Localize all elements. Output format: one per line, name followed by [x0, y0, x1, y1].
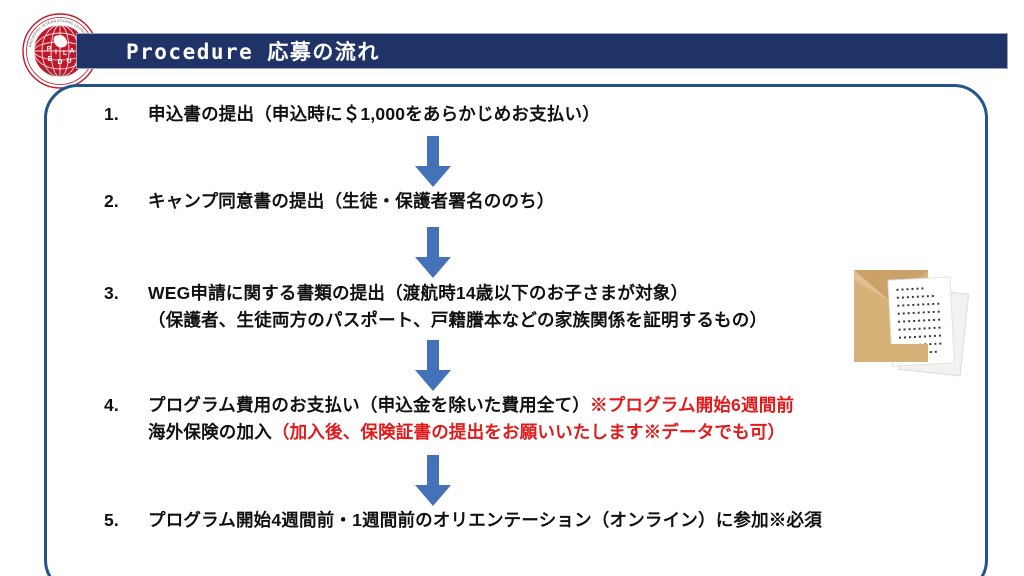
envelope-with-documents-image	[846, 258, 1006, 388]
svg-text:U: U	[66, 58, 71, 65]
step-line: 海外保険の加入（加入後、保険証書の提出をお願いいたします※データでも可）	[104, 419, 934, 446]
step-text: プログラム開始4週間前・1週間前のオリエンテーション（オンライン）に参加※必須	[148, 510, 822, 530]
svg-text:D: D	[57, 59, 62, 66]
step-text-alert: （加入後、保険証書の提出をお願いいたします※データでも可）	[272, 422, 785, 442]
step-line: 3.WEG申請に関する書類の提出（渡航時14歳以下のお子さまが対象）	[104, 280, 934, 307]
procedure-step-4: 4.プログラム費用のお支払い（申込金を除いた費用全て）※プログラム開始6週間前 …	[104, 392, 934, 446]
arrow-step2-to-step3	[414, 227, 452, 279]
step-text: 申込書の提出（申込時に＄1,000をあらかじめお支払い）	[148, 104, 600, 124]
slide-canvas: P I L A E D U PHILIPPINE INTERNATIONAL L…	[0, 0, 1024, 576]
procedure-step-5: 5.プログラム開始4週間前・1週間前のオリエンテーション（オンライン）に参加※必…	[104, 507, 934, 534]
svg-text:A: A	[69, 48, 74, 55]
step-text: （保護者、生徒両方のパスポート、戸籍謄本などの家族関係を証明するもの）	[148, 310, 767, 330]
page-title: Procedure 応募の流れ	[126, 38, 826, 66]
step-text-alert: ※プログラム開始6週間前	[590, 395, 794, 415]
svg-text:E: E	[48, 56, 53, 63]
arrow-step3-to-step4	[414, 340, 452, 392]
step-number: 3.	[104, 280, 148, 307]
svg-text:I: I	[55, 49, 57, 56]
procedure-step-1: 1.申込書の提出（申込時に＄1,000をあらかじめお支払い）	[104, 101, 934, 128]
step-number: 1.	[104, 101, 148, 128]
step-text: WEG申請に関する書類の提出（渡航時14歳以下のお子さまが対象）	[148, 283, 688, 303]
svg-text:P: P	[47, 46, 52, 53]
arrow-step4-to-step5	[414, 455, 452, 507]
step-line: （保護者、生徒両方のパスポート、戸籍謄本などの家族関係を証明するもの）	[104, 307, 934, 334]
step-line: 1.申込書の提出（申込時に＄1,000をあらかじめお支払い）	[104, 101, 934, 128]
step-line: 2.キャンプ同意書の提出（生徒・保護者署名ののち）	[104, 188, 934, 215]
step-number: 2.	[104, 188, 148, 215]
procedure-step-2: 2.キャンプ同意書の提出（生徒・保護者署名ののち）	[104, 188, 934, 215]
step-text: プログラム費用のお支払い（申込金を除いた費用全て）	[148, 395, 590, 415]
step-text: キャンプ同意書の提出（生徒・保護者署名ののち）	[148, 191, 555, 211]
procedure-step-3: 3.WEG申請に関する書類の提出（渡航時14歳以下のお子さまが対象） （保護者、…	[104, 280, 934, 334]
step-line: 5.プログラム開始4週間前・1週間前のオリエンテーション（オンライン）に参加※必…	[104, 507, 934, 534]
step-line: 4.プログラム費用のお支払い（申込金を除いた費用全て）※プログラム開始6週間前	[104, 392, 934, 419]
arrow-step1-to-step2	[414, 136, 452, 188]
step-number: 4.	[104, 392, 148, 419]
step-number: 5.	[104, 507, 148, 534]
step-text: 海外保険の加入	[148, 422, 272, 442]
svg-text:L: L	[63, 50, 68, 57]
